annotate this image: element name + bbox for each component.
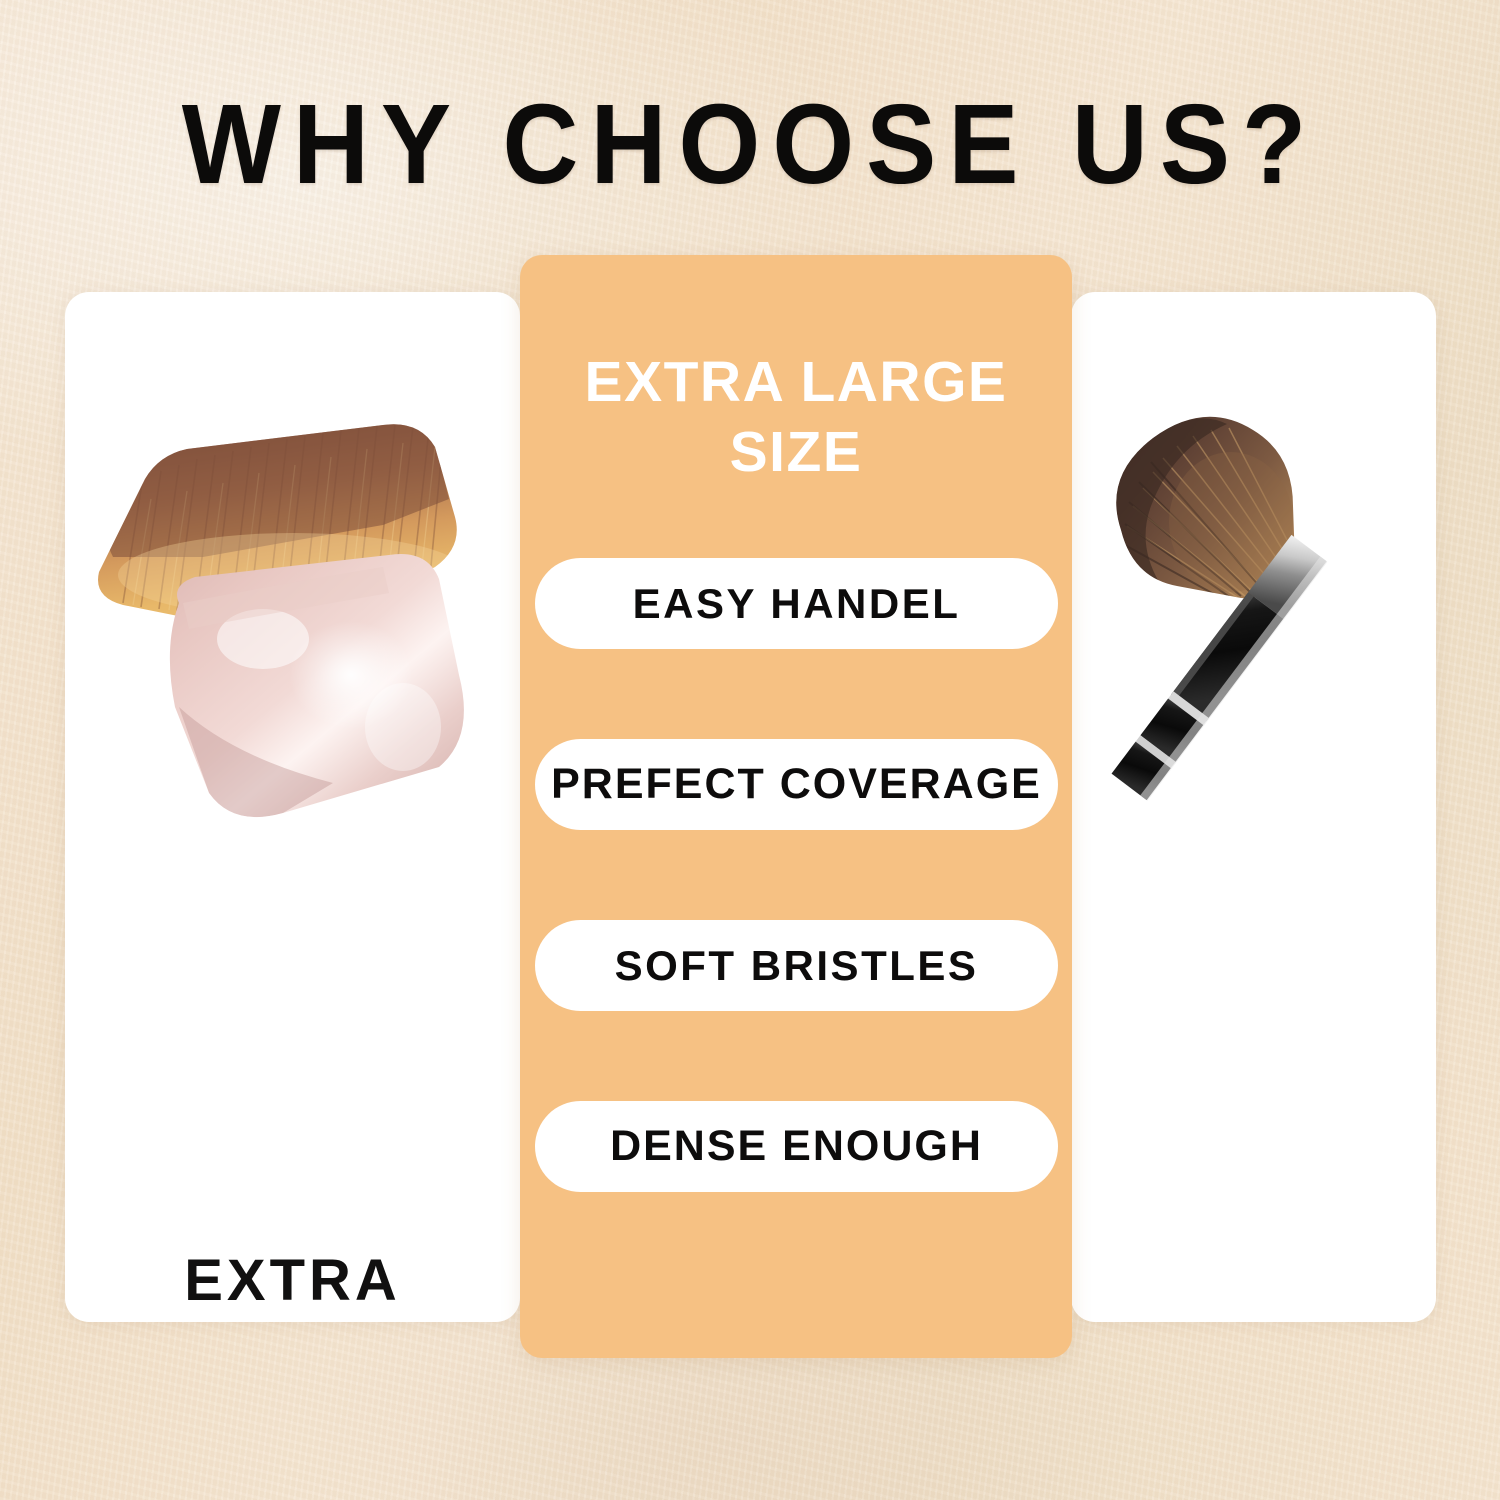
panel-heading: EXTRA LARGE SIZE xyxy=(546,347,1046,487)
standard-powder-brush-image xyxy=(1081,402,1436,802)
why-choose-us-infographic: WHY CHOOSE US? xyxy=(0,0,1500,1500)
right-product-card: OTHERS xyxy=(1071,292,1436,1322)
feature-label: PREFECT COVERAGE xyxy=(551,760,1042,809)
features-panel: EXTRA LARGE SIZE EASY HANDEL PREFECT COV… xyxy=(520,255,1072,1358)
feature-label: DENSE ENOUGH xyxy=(610,1122,983,1171)
feature-pill-prefect-coverage[interactable]: PREFECT COVERAGE xyxy=(535,739,1058,830)
feature-pill-easy-handel[interactable]: EASY HANDEL xyxy=(535,558,1058,649)
left-card-caption: EXTRA LARGE BRUSH xyxy=(65,1222,520,1322)
feature-pill-soft-bristles[interactable]: SOFT BRISTLES xyxy=(535,920,1058,1011)
feature-pill-dense-enough[interactable]: DENSE ENOUGH xyxy=(535,1101,1058,1192)
left-product-card: EXTRA LARGE BRUSH xyxy=(65,292,520,1322)
feature-label: EASY HANDEL xyxy=(633,580,961,628)
extra-large-kabuki-brush-image xyxy=(83,407,503,827)
page-title: WHY CHOOSE US? xyxy=(53,88,1448,201)
feature-label: SOFT BRISTLES xyxy=(615,942,979,990)
left-caption-line-1: EXTRA xyxy=(65,1222,520,1322)
